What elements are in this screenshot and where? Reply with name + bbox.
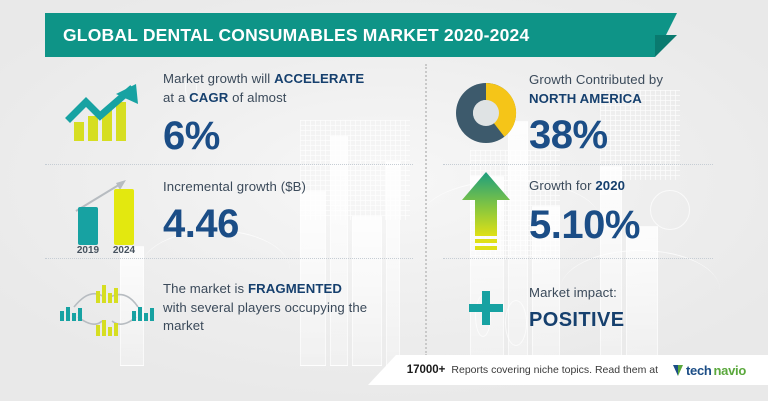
- region-contribution-text: Growth Contributed by NORTH AMERICA 38%: [529, 71, 723, 155]
- region-contribution-region: NORTH AMERICA: [529, 90, 723, 109]
- region-contribution-label: Growth Contributed by: [529, 71, 723, 90]
- fragmentation-cell: The market is FRAGMENTED with several pl…: [45, 258, 425, 358]
- fragmentation-line-1: The market is FRAGMENTED: [163, 280, 425, 299]
- cagr-word: CAGR: [189, 90, 228, 105]
- donut-chart-icon: [443, 76, 529, 150]
- page-title: GLOBAL DENTAL CONSUMABLES MARKET 2020-20…: [63, 13, 529, 57]
- yearly-growth-cell: Growth for 2020 5.10%: [443, 164, 723, 258]
- right-column: Growth Contributed by NORTH AMERICA 38%: [443, 62, 723, 360]
- region-contribution-value: 38%: [529, 115, 723, 155]
- fragmentation-line-2: with several players occupying the: [163, 299, 425, 318]
- north-america-word: NORTH AMERICA: [529, 91, 642, 106]
- fragmented-market-icon: [45, 277, 163, 339]
- footer-tagline: Reports covering niche topics. Read them…: [451, 364, 658, 376]
- region-contribution-cell: Growth Contributed by NORTH AMERICA 38%: [443, 62, 723, 164]
- incremental-growth-value: 4.46: [163, 204, 425, 244]
- header-banner: GLOBAL DENTAL CONSUMABLES MARKET 2020-20…: [45, 13, 655, 57]
- left-column: Market growth will ACCELERATE at a CAGR …: [45, 62, 425, 360]
- svg-text:2024: 2024: [113, 245, 136, 255]
- cagr-line-2: at a CAGR of almost: [163, 89, 425, 108]
- cagr-value: 6%: [163, 116, 425, 156]
- incremental-growth-label: Incremental growth ($B): [163, 178, 425, 197]
- cagr-line-2-suffix: of almost: [228, 90, 286, 105]
- fragmented-word: FRAGMENTED: [248, 281, 342, 296]
- market-impact-value: POSITIVE: [529, 309, 723, 332]
- logo-text-navio: navio: [714, 363, 746, 378]
- technavio-logo[interactable]: technavio: [672, 363, 746, 378]
- incremental-growth-text: Incremental growth ($B) 4.46: [163, 178, 425, 245]
- market-impact-text: Market impact: POSITIVE: [529, 284, 723, 333]
- market-impact-label: Market impact:: [529, 284, 723, 303]
- yearly-growth-text: Growth for 2020 5.10%: [529, 177, 723, 245]
- technavio-flag-icon: [672, 364, 684, 377]
- footer-bar: 17000+ Reports covering niche topics. Re…: [368, 355, 768, 385]
- cagr-accelerate-word: ACCELERATE: [274, 71, 364, 86]
- two-bar-comparison-icon: 2019 2024: [45, 167, 163, 255]
- yearly-growth-label-prefix: Growth for: [529, 178, 595, 193]
- cagr-cell: Market growth will ACCELERATE at a CAGR …: [45, 62, 425, 164]
- fragmentation-line-1-prefix: The market is: [163, 281, 248, 296]
- svg-text:2019: 2019: [77, 245, 100, 255]
- yearly-growth-year: 2020: [595, 178, 625, 193]
- fragmentation-text: The market is FRAGMENTED with several pl…: [163, 280, 425, 336]
- cagr-line-1-prefix: Market growth will: [163, 71, 274, 86]
- reports-count: 17000+: [407, 364, 446, 376]
- plus-icon: [443, 288, 529, 328]
- fragmentation-line-3: market: [163, 317, 425, 336]
- content-grid: Market growth will ACCELERATE at a CAGR …: [45, 62, 723, 360]
- growth-arrow-chart-icon: [45, 82, 163, 144]
- cagr-line-1: Market growth will ACCELERATE: [163, 70, 425, 89]
- cagr-text: Market growth will ACCELERATE at a CAGR …: [163, 70, 425, 155]
- yearly-growth-label: Growth for 2020: [529, 177, 723, 196]
- yearly-growth-value: 5.10%: [529, 205, 723, 245]
- column-divider: [425, 64, 427, 356]
- banner-fold: [655, 35, 677, 57]
- incremental-growth-cell: 2019 2024 Incremental growth ($B) 4.46: [45, 164, 425, 258]
- cagr-line-2-prefix: at a: [163, 90, 189, 105]
- logo-text-tech: tech: [686, 363, 712, 378]
- up-arrow-icon: [443, 170, 529, 252]
- infographic-root: GLOBAL DENTAL CONSUMABLES MARKET 2020-20…: [0, 0, 768, 401]
- market-impact-cell: Market impact: POSITIVE: [443, 258, 723, 358]
